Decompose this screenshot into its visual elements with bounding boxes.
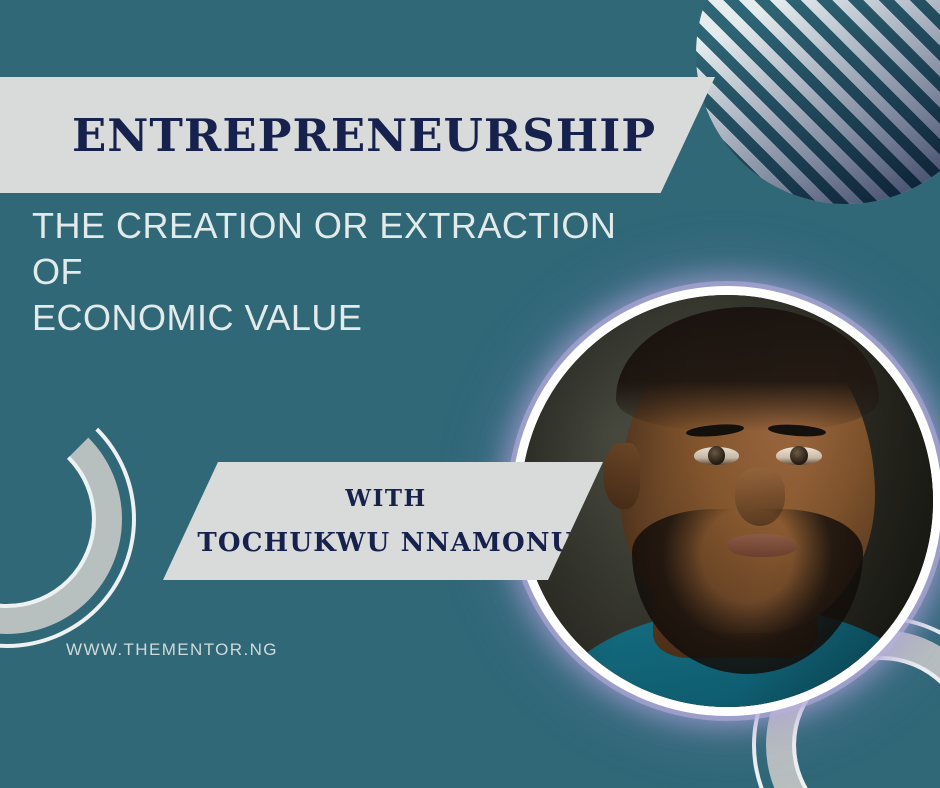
arc-outline-outer [0,390,136,648]
speaker-label: WITH [345,485,426,512]
stripe-gradient-overlay [696,0,940,204]
page-title: ENTREPRENEURSHIP [72,109,656,162]
speaker-name: TOCHUKWU NNAMONU [197,528,574,558]
title-banner: ENTREPRENEURSHIP [0,77,715,193]
speaker-banner: WITH TOCHUKWU NNAMONU [163,462,603,580]
arc-outline-inner [0,430,96,608]
subtitle-line-1: THE CREATION OR EXTRACTION OF [32,203,672,295]
arc-band-thick [0,404,122,634]
arc-decoration-bottom-left [0,404,122,634]
subtitle: THE CREATION OR EXTRACTION OF ECONOMIC V… [32,203,672,341]
flyer-canvas: ENTREPRENEURSHIP THE CREATION OR EXTRACT… [0,0,940,788]
diagonal-stripes [696,0,940,204]
striped-circle-decoration [696,0,940,204]
website-url: WWW.THEMENTOR.NG [66,640,278,660]
subtitle-line-2: ECONOMIC VALUE [32,295,672,341]
